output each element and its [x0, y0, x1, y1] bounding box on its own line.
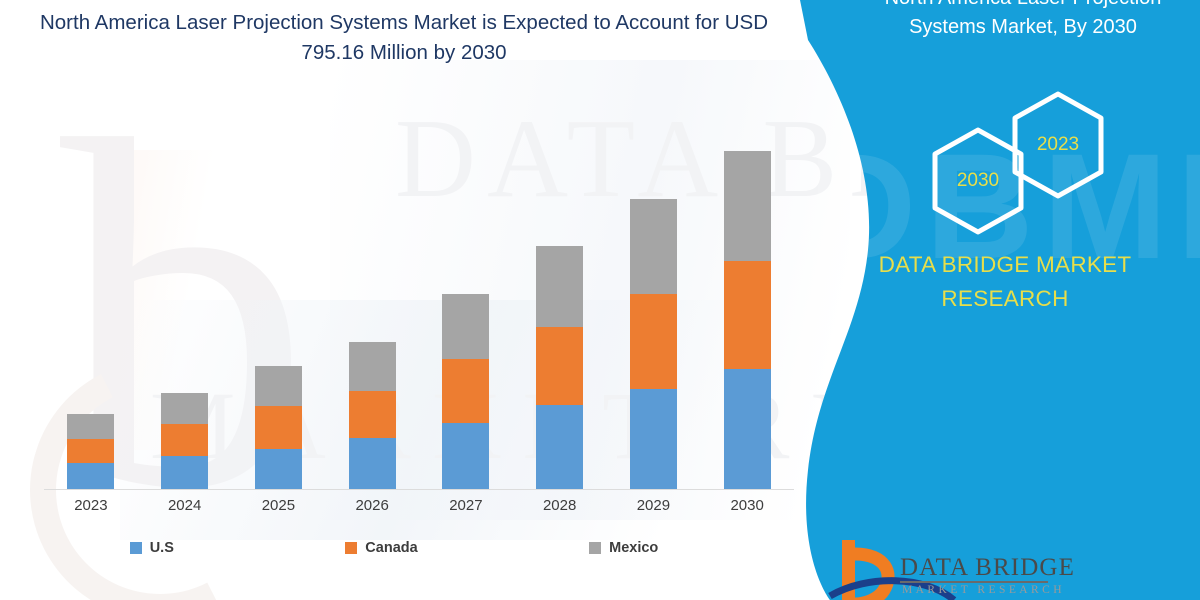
stacked-bar	[349, 342, 396, 489]
bar-segment-us	[255, 449, 302, 489]
hexagon-2023: 2023	[1008, 89, 1108, 201]
x-axis-label: 2023	[46, 497, 136, 514]
x-axis-label: 2028	[515, 497, 605, 514]
x-axis-label: 2027	[421, 497, 511, 514]
bar-column	[140, 120, 230, 489]
bar-column	[327, 120, 417, 489]
stacked-bar	[536, 246, 583, 489]
stacked-bar	[67, 414, 114, 489]
bar-segment-mexico	[630, 199, 677, 294]
bar-segment-canada	[349, 391, 396, 438]
legend-label: U.S	[150, 540, 174, 556]
bar-group	[44, 120, 794, 489]
bar-segment-us	[630, 389, 677, 489]
bar-segment-us	[536, 405, 583, 489]
bar-column	[515, 120, 605, 489]
legend-item-canada[interactable]: Canada	[345, 540, 417, 556]
stacked-bar	[724, 151, 771, 489]
bar-column	[233, 120, 323, 489]
panel-title: North America Laser Projection Systems M…	[858, 0, 1188, 42]
bar-segment-canada	[536, 327, 583, 405]
bar-segment-canada	[442, 359, 489, 423]
brand-name: DATA BRIDGE MARKET RESEARCH	[820, 248, 1190, 316]
brand-panel: DBMR North America Laser Projection Syst…	[800, 0, 1200, 600]
bar-column	[702, 120, 792, 489]
stacked-bar	[161, 393, 208, 489]
legend-swatch	[130, 542, 142, 554]
bar-segment-us	[161, 456, 208, 489]
legend-item-mexico[interactable]: Mexico	[589, 540, 658, 556]
bar-segment-us	[724, 369, 771, 489]
bar-segment-mexico	[536, 246, 583, 327]
legend-label: Mexico	[609, 540, 658, 556]
bar-segment-canada	[255, 406, 302, 449]
bar-segment-canada	[630, 294, 677, 389]
bar-segment-mexico	[724, 151, 771, 261]
x-axis-line	[44, 489, 794, 490]
bar-segment-canada	[724, 261, 771, 369]
stacked-bar	[630, 199, 677, 489]
stacked-bar-chart: 20232024202520262027202820292030 U.SCana…	[0, 0, 820, 600]
bar-segment-canada	[161, 424, 208, 456]
x-axis-label: 2024	[140, 497, 230, 514]
hexagon-2023-label: 2023	[1008, 89, 1108, 201]
x-axis-label: 2030	[702, 497, 792, 514]
bar-segment-us	[67, 463, 114, 489]
bar-segment-us	[349, 438, 396, 489]
brand-line-2: RESEARCH	[941, 286, 1068, 311]
bar-segment-mexico	[67, 414, 114, 439]
logo-wordmark: DATA BRIDGE	[900, 554, 1075, 582]
bar-segment-mexico	[161, 393, 208, 424]
bar-column	[421, 120, 511, 489]
legend-swatch	[589, 542, 601, 554]
legend-label: Canada	[365, 540, 417, 556]
infographic-canvas: b DATA BRIDGE MARKET RESEARCH North Amer…	[0, 0, 1200, 600]
stacked-bar	[255, 366, 302, 489]
x-axis-labels: 20232024202520262027202820292030	[44, 497, 794, 514]
bar-segment-mexico	[349, 342, 396, 391]
legend-swatch	[345, 542, 357, 554]
bar-segment-us	[442, 423, 489, 489]
bar-segment-mexico	[255, 366, 302, 406]
bar-segment-mexico	[442, 294, 489, 359]
chart-legend: U.SCanadaMexico	[44, 540, 744, 556]
data-bridge-logo: DATA BRIDGE MARKET RESEARCH	[828, 534, 1088, 600]
bar-column	[46, 120, 136, 489]
logo-tagline: MARKET RESEARCH	[902, 584, 1065, 596]
hexagon-group: 2030 2023	[910, 95, 1140, 235]
x-axis-label: 2029	[608, 497, 698, 514]
legend-item-us[interactable]: U.S	[130, 540, 174, 556]
bar-column	[608, 120, 698, 489]
brand-line-1: DATA BRIDGE MARKET	[879, 252, 1132, 277]
stacked-bar	[442, 294, 489, 489]
x-axis-label: 2025	[233, 497, 323, 514]
bar-segment-canada	[67, 439, 114, 463]
x-axis-label: 2026	[327, 497, 417, 514]
logo-divider	[900, 581, 1048, 583]
